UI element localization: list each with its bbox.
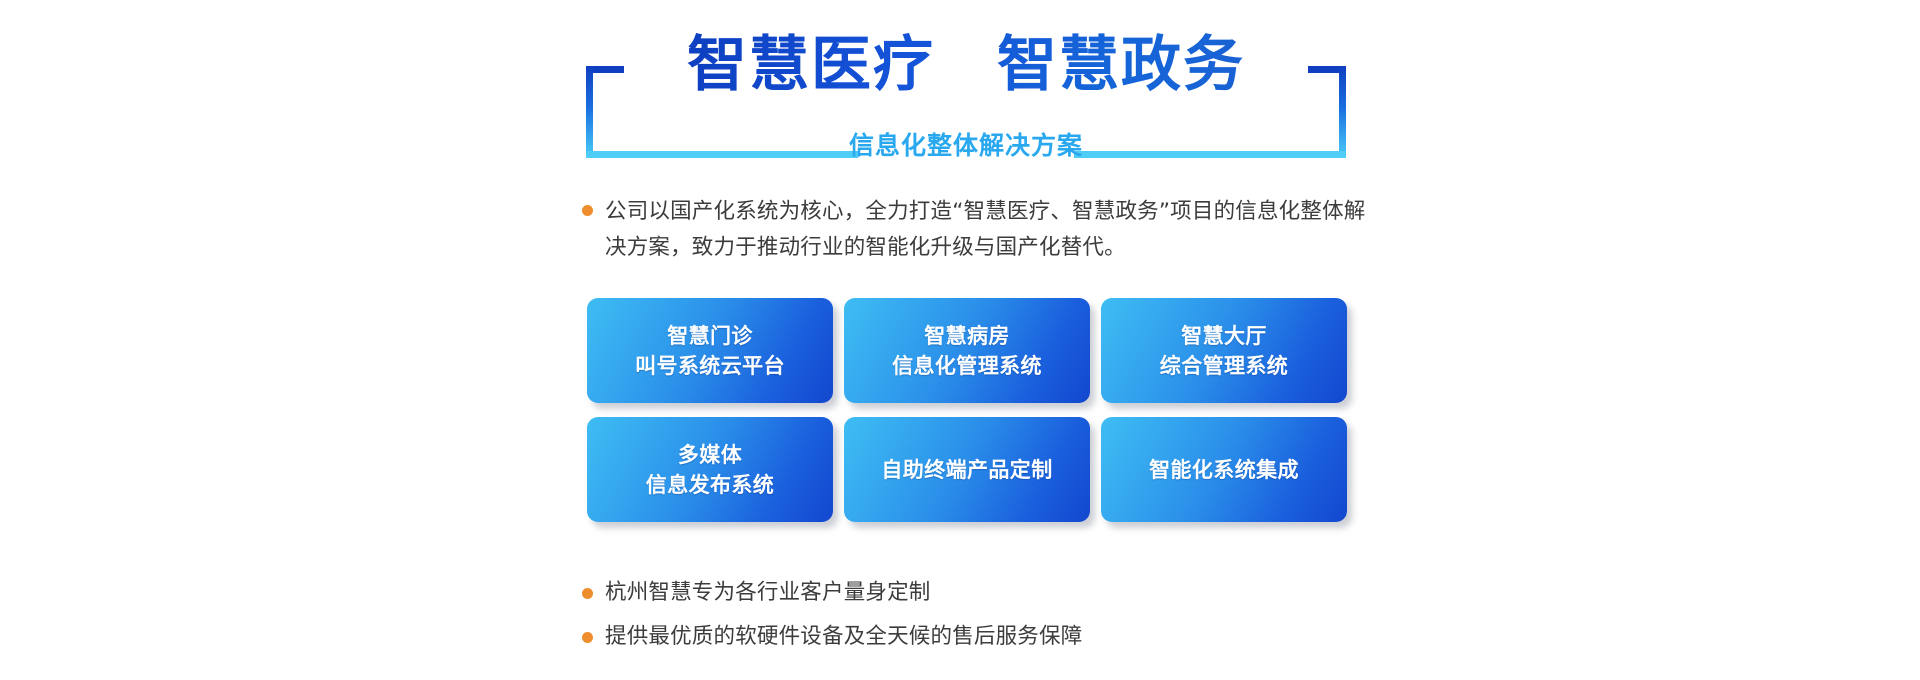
lead-paragraph: 公司以国产化系统为核心，全力打造“智慧医疗、智慧政务”项目的信息化整体解决方案，…	[582, 194, 1372, 266]
feature-bullet-list: 杭州智慧专为各行业客户量身定制 提供最优质的软硬件设备及全天候的售后服务保障	[582, 578, 1382, 666]
solution-card[interactable]: 智能化系统集成	[1101, 417, 1347, 522]
solution-card[interactable]: 智慧大厅 综合管理系统	[1101, 298, 1347, 403]
solution-card-label: 智慧大厅 综合管理系统	[1160, 321, 1288, 381]
page-title: 智慧医疗 智慧政务	[586, 26, 1346, 104]
solution-card[interactable]: 智慧病房 信息化管理系统	[844, 298, 1090, 403]
solution-card-label: 自助终端产品定制	[881, 455, 1052, 485]
list-item: 提供最优质的软硬件设备及全天候的售后服务保障	[582, 622, 1382, 652]
solution-card-label: 多媒体 信息发布系统	[646, 440, 774, 500]
page-subtitle: 信息化整体解决方案	[586, 130, 1346, 162]
solution-card-label: 智慧门诊 叫号系统云平台	[635, 321, 785, 381]
lead-paragraph-text: 公司以国产化系统为核心，全力打造“智慧医疗、智慧政务”项目的信息化整体解决方案，…	[605, 194, 1372, 266]
solution-card[interactable]: 多媒体 信息发布系统	[587, 417, 833, 522]
solution-card[interactable]: 智慧门诊 叫号系统云平台	[587, 298, 833, 403]
list-item-label: 提供最优质的软硬件设备及全天候的售后服务保障	[605, 622, 1082, 652]
solution-card-label: 智能化系统集成	[1149, 455, 1299, 485]
orange-dot-icon	[582, 205, 593, 216]
title-block: 智慧医疗 智慧政务 信息化整体解决方案	[586, 26, 1346, 156]
orange-dot-icon	[582, 632, 593, 643]
list-item: 杭州智慧专为各行业客户量身定制	[582, 578, 1382, 608]
orange-dot-icon	[582, 588, 593, 599]
solution-card-label: 智慧病房 信息化管理系统	[892, 321, 1042, 381]
solution-card[interactable]: 自助终端产品定制	[844, 417, 1090, 522]
list-item-label: 杭州智慧专为各行业客户量身定制	[605, 578, 931, 608]
promo-banner-page: 智慧医疗 智慧政务 信息化整体解决方案 公司以国产化系统为核心，全力打造“智慧医…	[0, 0, 1920, 680]
solution-card-grid: 智慧门诊 叫号系统云平台 智慧病房 信息化管理系统 智慧大厅 综合管理系统 多媒…	[587, 298, 1347, 522]
